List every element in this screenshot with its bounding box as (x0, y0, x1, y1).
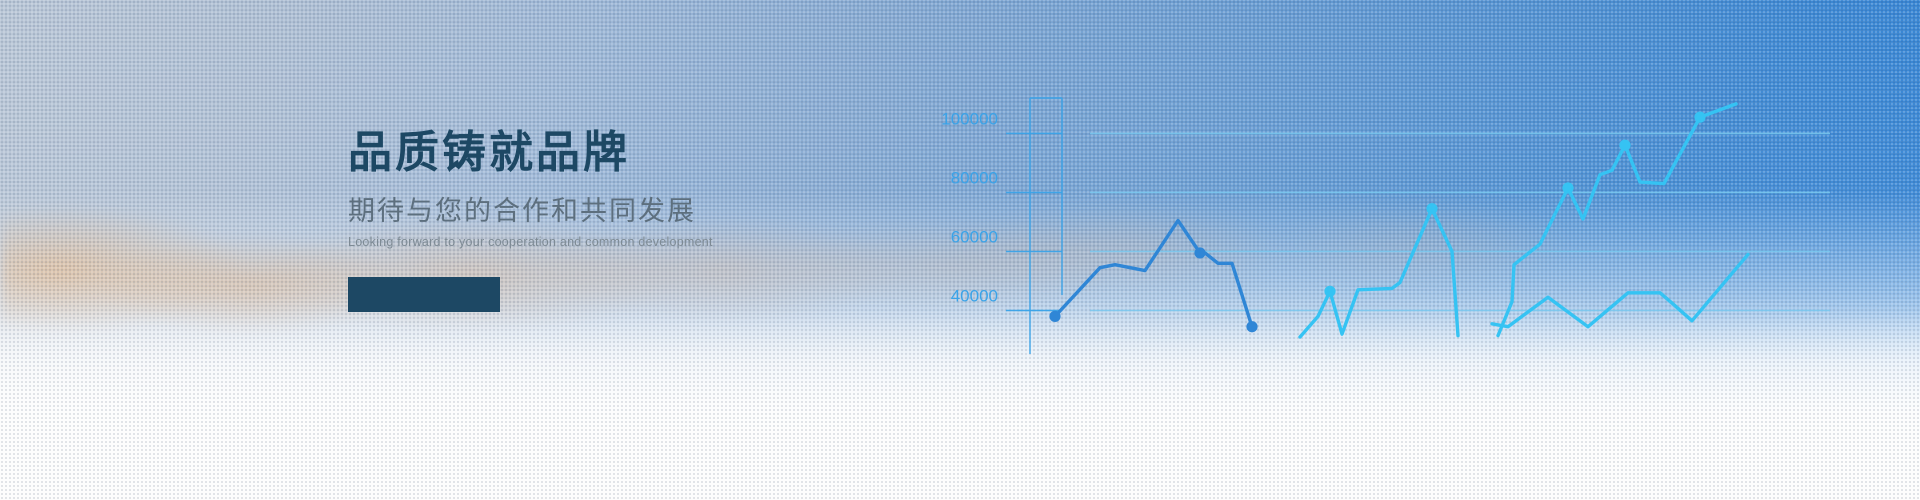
cta-button[interactable] (348, 277, 500, 312)
page-subtitle-english: Looking forward to your cooperation and … (348, 235, 868, 250)
hero-banner: 400006000080000100000 品质铸就品牌 期待与您的合作和共同发… (0, 0, 1920, 500)
background-bottom-fade (0, 310, 1920, 500)
page-title: 品质铸就品牌 (348, 128, 868, 177)
banner-copy: 品质铸就品牌 期待与您的合作和共同发展 Looking forward to y… (348, 128, 868, 312)
page-subtitle: 期待与您的合作和共同发展 (348, 195, 868, 227)
